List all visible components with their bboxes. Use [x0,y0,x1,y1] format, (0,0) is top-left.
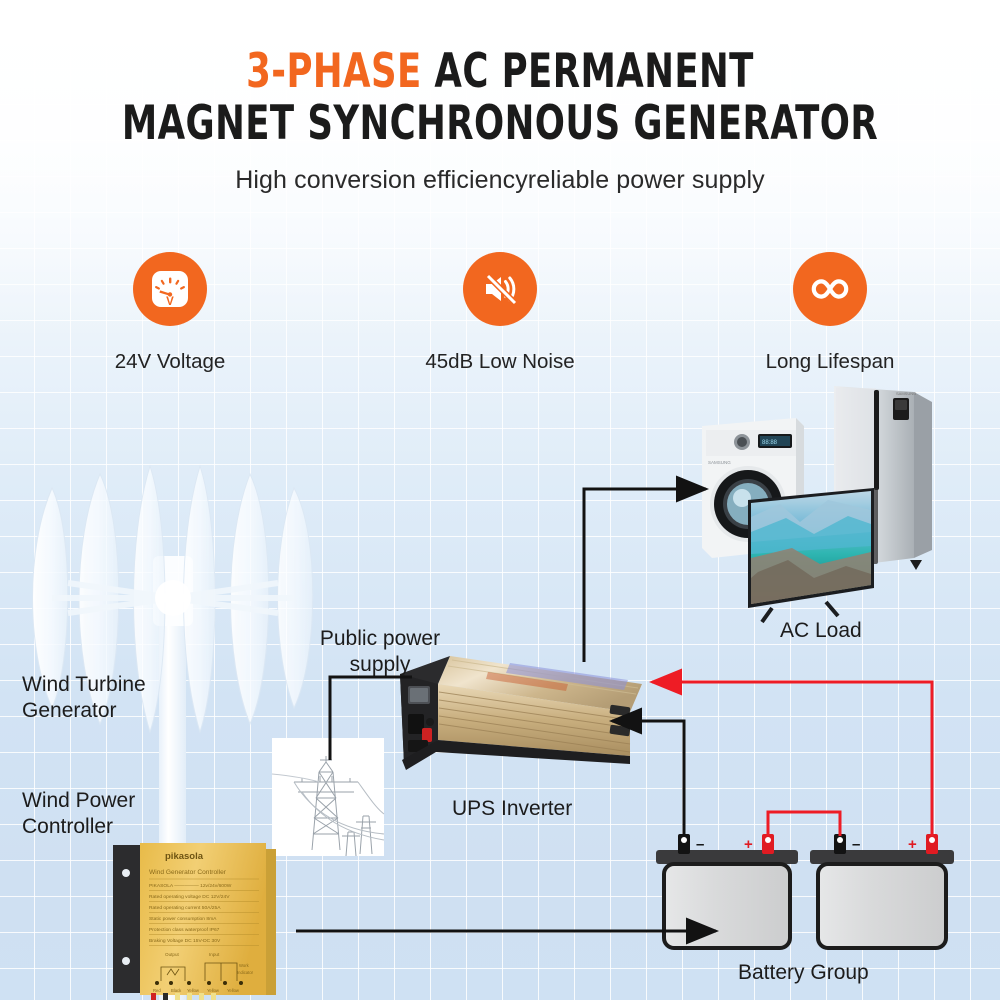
feature-noise: 45dB Low Noise [405,252,595,374]
feature-label: 45dB Low Noise [405,350,595,374]
controller-work-indicator: Work [239,963,250,968]
feature-label: 24V Voltage [75,350,265,374]
controller-port-output: Output [165,952,180,957]
terminal-sign-negative: – [696,836,704,853]
infographic-page: 3-PHASE AC PERMANENT MAGNET SYNCHRONOUS … [0,0,1000,1000]
feature-voltage: V 24V Voltage [75,252,265,374]
label-wind-turbine-generator: Wind Turbine Generator [22,672,146,724]
feature-lifespan: Long Lifespan [735,252,925,374]
ac-load-appliances: SAMSUNG 88:88 SAMSUNG [688,382,938,614]
mute-speaker-icon [476,265,524,313]
battery-1 [656,850,798,948]
feature-icon-badge: V [133,252,207,326]
controller-brand: pikasola [165,851,204,862]
svg-text:SAMSUNG: SAMSUNG [896,391,916,396]
label-battery-group: Battery Group [738,960,869,986]
page-subtitle: High conversion efficiencyreliable power… [0,166,1000,195]
controller-wire-label: Yellow [227,988,240,993]
label-ups-inverter: UPS Inverter [452,796,572,822]
feature-icon-badge [793,252,867,326]
controller-wire-label: Red [153,988,161,993]
svg-text:88:88: 88:88 [762,440,778,446]
page-title-line1: 3-PHASE AC PERMANENT [80,46,920,98]
public-power-pylon-image [272,738,384,856]
television-icon [748,488,874,622]
controller-wire-label: Yellow [187,988,200,993]
page-title-line2: MAGNET SYNCHRONOUS GENERATOR [80,98,920,150]
feature-icon-badge [463,252,537,326]
label-wind-power-controller: Wind Power Controller [22,788,135,840]
feature-list: V 24V Voltage 45dB [0,252,1000,374]
header: 3-PHASE AC PERMANENT MAGNET SYNCHRONOUS … [0,46,1000,195]
label-ac-load: AC Load [780,618,862,644]
controller-spec: Rated operating current 50A/25A [149,905,221,911]
title-highlight: 3-PHASE [246,44,421,99]
title-rest: AC PERMANENT [422,44,754,99]
battery-group: – + – + [650,828,960,958]
controller-spec: Protection class waterproof IP67 [149,927,220,933]
power-switch [422,728,432,742]
controller-model: PIKASOLA ————— 12v/24v/600W [149,883,232,889]
terminal-sign-positive: + [908,836,917,853]
svg-text:SAMSUNG: SAMSUNG [708,460,731,465]
terminal-sign-positive: + [744,836,753,853]
wind-power-controller: pikasola Wind Generator Controller PIKAS… [113,843,293,1000]
terminal-sign-negative: – [852,836,860,853]
wire-battery-positive-to-inverter [652,682,932,836]
feature-label: Long Lifespan [735,350,925,374]
infinity-icon [806,265,854,313]
controller-work-indicator: Indicator [237,970,254,975]
label-public-power-supply: Public power supply [315,626,445,678]
controller-spec: Static power consumption 8mA [149,916,217,922]
controller-spec: Braking Voltage DC 15V-DC 30V [149,938,221,944]
battery-2 [810,850,954,948]
controller-port-input: Input [209,952,220,957]
controller-title: Wind Generator Controller [149,869,227,876]
controller-spec: Rated operating voltage DC 12V/24V [149,894,230,900]
svg-text:V: V [166,296,174,308]
voltmeter-icon: V [146,265,194,313]
controller-wire-label: Yellow [207,988,220,993]
controller-wire-label: Black [171,988,182,993]
